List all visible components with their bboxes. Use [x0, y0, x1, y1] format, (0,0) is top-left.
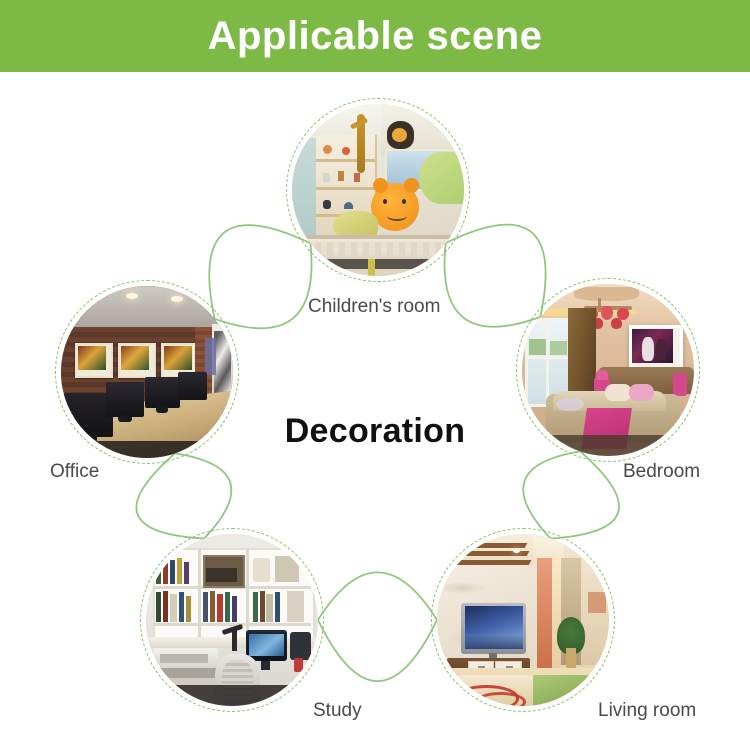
node-study[interactable] [140, 528, 324, 712]
connector-arc [318, 572, 437, 620]
scene-study [146, 534, 318, 706]
photo-study[interactable] [146, 534, 318, 706]
photo-bedroom[interactable] [522, 284, 694, 456]
scene-bedroom [522, 284, 694, 456]
photo-living-room[interactable] [437, 534, 609, 706]
node-children-room[interactable] [286, 98, 470, 282]
connector-arc [318, 620, 437, 681]
page-title: Applicable scene [208, 16, 543, 56]
connector-arc [136, 453, 204, 538]
scene-living-room [437, 534, 609, 706]
diagram-stage: Decoration [0, 72, 750, 750]
node-label-study: Study [313, 700, 362, 722]
header-banner: Applicable scene [0, 0, 750, 72]
scene-children-room [292, 104, 464, 276]
photo-children-room[interactable] [292, 104, 464, 276]
scene-office [61, 286, 233, 458]
node-label-bedroom: Bedroom [623, 461, 700, 483]
node-label-living-room: Living room [598, 700, 696, 722]
applicable-scene-infographic: Applicable scene Decoration [0, 0, 750, 750]
node-bedroom[interactable] [516, 278, 700, 462]
photo-office[interactable] [61, 286, 233, 458]
node-label-children-room: Children's room [308, 296, 440, 318]
connector-arc [175, 453, 232, 538]
node-living-room[interactable] [431, 528, 615, 712]
node-office[interactable] [55, 280, 239, 464]
node-label-office: Office [50, 461, 99, 483]
connector-arc [551, 451, 619, 538]
connector-arc [523, 451, 580, 538]
